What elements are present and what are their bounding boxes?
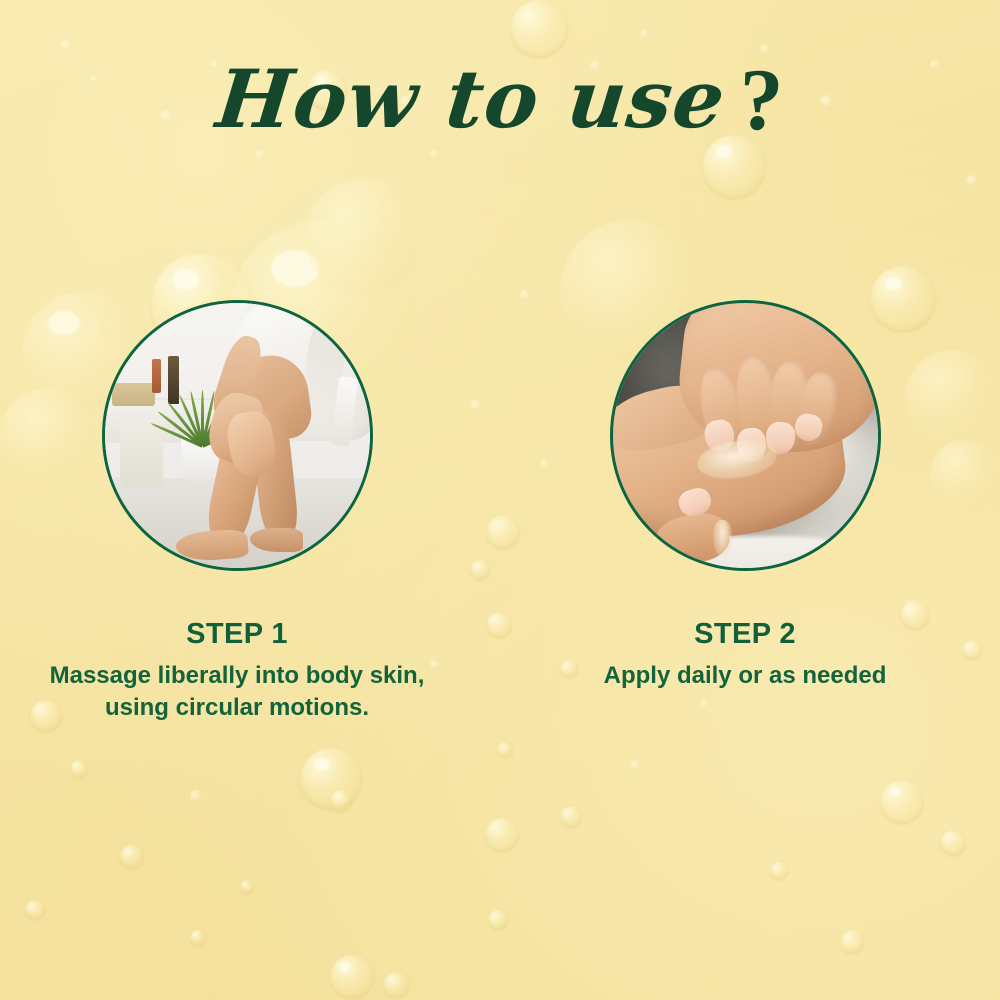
step-2-label: STEP 2 (525, 619, 965, 651)
how-to-use-poster: How to use? (0, 0, 1000, 1000)
step-1-description-line-1: Massage liberally into body skin, (50, 662, 425, 689)
step-1-description-line-2: using circular motions. (17, 692, 457, 724)
step-1-label: STEP 1 (17, 619, 457, 651)
step-1-photo (102, 300, 373, 571)
step-2-description-line-1: Apply daily or as needed (604, 662, 887, 689)
leg-lotion-illustration (105, 303, 370, 568)
page-title: How to use? (212, 57, 788, 145)
hands-oil-illustration (613, 303, 878, 568)
step-2-image (613, 303, 878, 568)
step-1-description: Massage liberally into body skin, using … (17, 660, 457, 725)
page-title-container: How to use? (0, 46, 1000, 156)
question-mark: ? (737, 57, 785, 145)
page-title-text: How to use (212, 52, 730, 146)
step-1: STEP 1 Massage liberally into body skin,… (17, 300, 457, 725)
step-2: STEP 2 Apply daily or as needed (525, 300, 965, 692)
step-2-description: Apply daily or as needed (525, 660, 965, 692)
step-1-image (105, 303, 370, 568)
step-2-photo (610, 300, 881, 571)
